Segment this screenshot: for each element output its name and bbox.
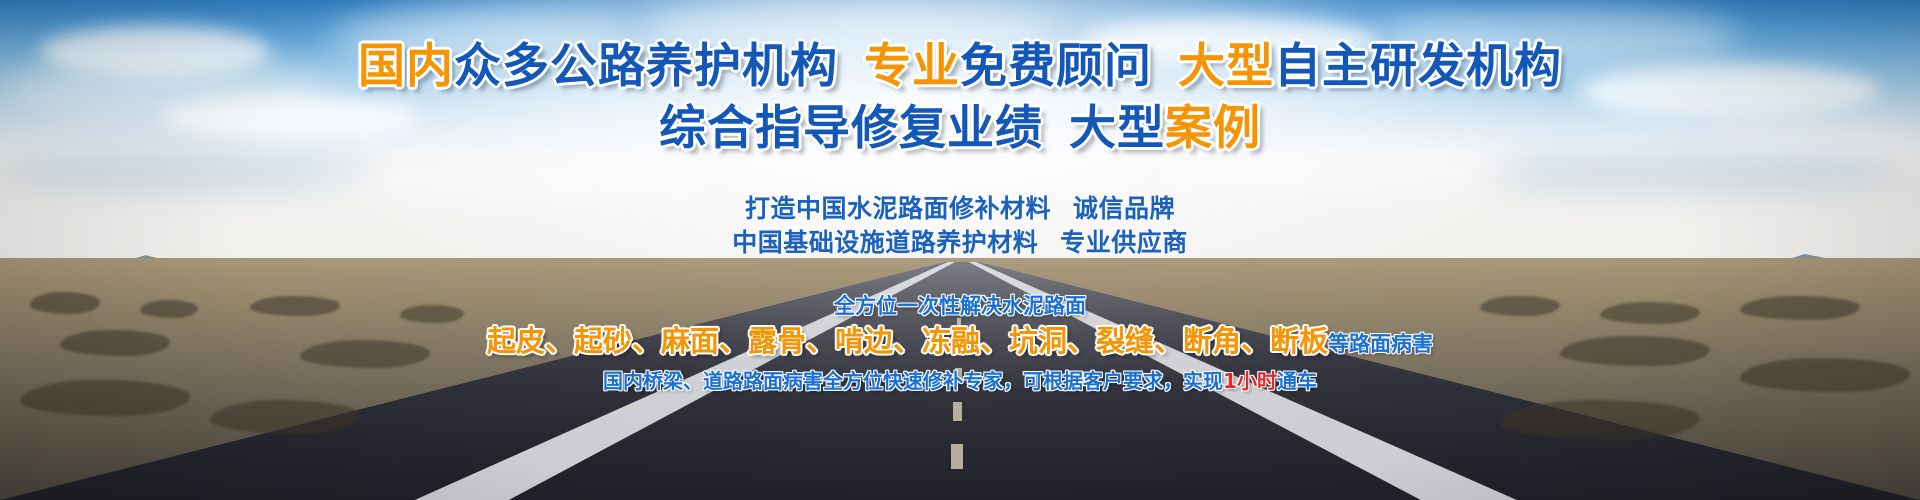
headline-line-2: 综合指导修复业绩大型案例 (0, 100, 1920, 158)
bottom-line-2: 起皮、起砂、麻面、露骨、啃边、冻融、坑洞、裂缝、断角、断板等路面病害 (0, 321, 1920, 364)
headline-1-seg-2: 众多公路养护机构 (454, 39, 838, 94)
headline-1-seg-3: 专业 (864, 39, 960, 94)
headline-line-1: 国内众多公路养护机构专业免费顾问大型自主研发机构 (0, 38, 1920, 96)
subtitle-line-1: 打造中国水泥路面修补材料诚信品牌 (0, 192, 1920, 226)
bottom-3-seg-2: 通车 (1277, 369, 1317, 393)
subtitle-2-seg-2: 专业供应商 (1060, 228, 1188, 257)
headline-2-seg-3: 案例 (1165, 101, 1261, 156)
defect-list: 起皮、起砂、麻面、露骨、啃边、冻融、坑洞、裂缝、断角、断板 (487, 324, 1328, 358)
bottom-3-highlight: 1小时 (1223, 369, 1277, 393)
bottom-line-1: 全方位一次性解决水泥路面 (0, 293, 1920, 319)
headline-2-seg-2: 大型 (1069, 101, 1165, 156)
banner-text-layer: 国内众多公路养护机构专业免费顾问大型自主研发机构 综合指导修复业绩大型案例 打造… (0, 0, 1920, 500)
headline-block: 国内众多公路养护机构专业免费顾问大型自主研发机构 综合指导修复业绩大型案例 (0, 38, 1920, 158)
headline-2-seg-1: 综合指导修复业绩 (659, 101, 1043, 156)
promo-banner: 国内众多公路养护机构专业免费顾问大型自主研发机构 综合指导修复业绩大型案例 打造… (0, 0, 1920, 500)
subtitle-block: 打造中国水泥路面修补材料诚信品牌 中国基础设施道路养护材料专业供应商 (0, 192, 1920, 260)
headline-1-seg-5: 大型 (1178, 39, 1274, 94)
subtitle-1-seg-1: 打造中国水泥路面修补材料 (745, 194, 1051, 223)
subtitle-2-seg-1: 中国基础设施道路养护材料 (732, 228, 1038, 257)
headline-1-seg-1: 国内 (358, 39, 454, 94)
defect-list-suffix: 等路面病害 (1328, 332, 1433, 356)
headline-1-seg-6: 自主研发机构 (1274, 39, 1562, 94)
bottom-3-seg-1: 国内桥梁、道路路面病害全方位快速修补专家，可根据客户要求，实现 (603, 369, 1223, 393)
bottom-line-3: 国内桥梁、道路路面病害全方位快速修补专家，可根据客户要求，实现1小时通车 (0, 367, 1920, 395)
bottom-text-block: 全方位一次性解决水泥路面 起皮、起砂、麻面、露骨、啃边、冻融、坑洞、裂缝、断角、… (0, 293, 1920, 395)
subtitle-1-seg-2: 诚信品牌 (1073, 194, 1175, 223)
headline-1-seg-4: 免费顾问 (960, 39, 1152, 94)
subtitle-line-2: 中国基础设施道路养护材料专业供应商 (0, 226, 1920, 260)
